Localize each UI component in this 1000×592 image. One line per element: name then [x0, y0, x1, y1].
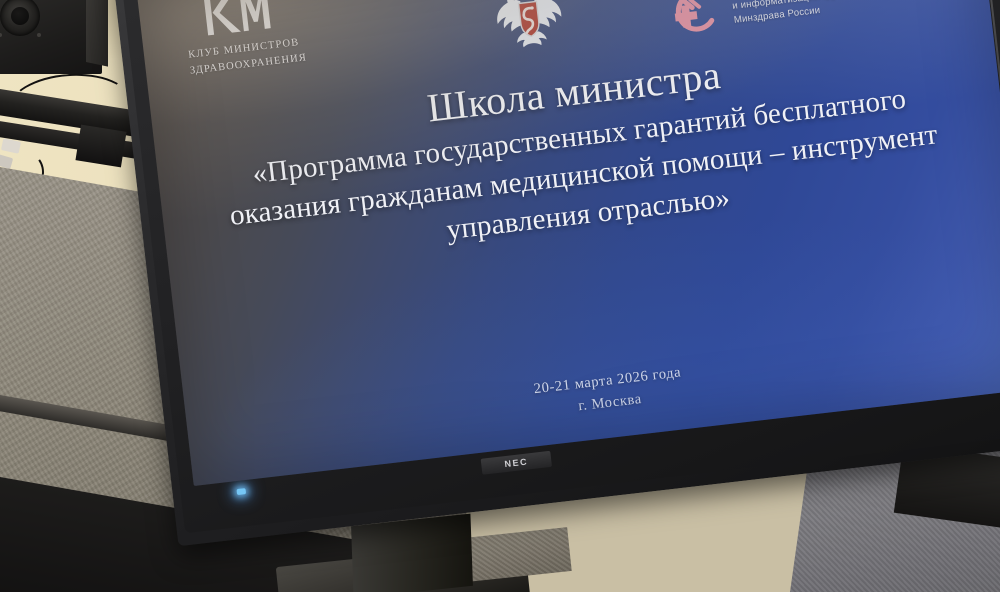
stand-neck: [351, 514, 473, 592]
speaker-screw: [0, 33, 2, 37]
speaker-cone: [0, 0, 40, 36]
office-scene-photo: NEC КЛУБ МИНИСТРОВ ЗДРАВООХРАНЕНИЯ: [0, 0, 1000, 592]
power-led-indicator: [236, 488, 246, 495]
nec-monitor: NEC КЛУБ МИНИСТРОВ ЗДРАВООХРАНЕНИЯ: [112, 0, 1000, 546]
monitor-stand: [300, 520, 640, 592]
russian-ministry-of-health-emblem: [489, 0, 568, 58]
km-monogram-icon: [197, 0, 272, 38]
club-of-ministers-logo: КЛУБ МИНИСТРОВ ЗДРАВООХРАНЕНИЯ: [179, 0, 338, 80]
speaker-screw: [37, 33, 41, 37]
ciiz-cross-arrow-icon: [664, 0, 726, 40]
speaker-side-panel: [86, 0, 108, 67]
ciiz-logo-text: Центральный институт организации и инфор…: [730, 0, 906, 28]
